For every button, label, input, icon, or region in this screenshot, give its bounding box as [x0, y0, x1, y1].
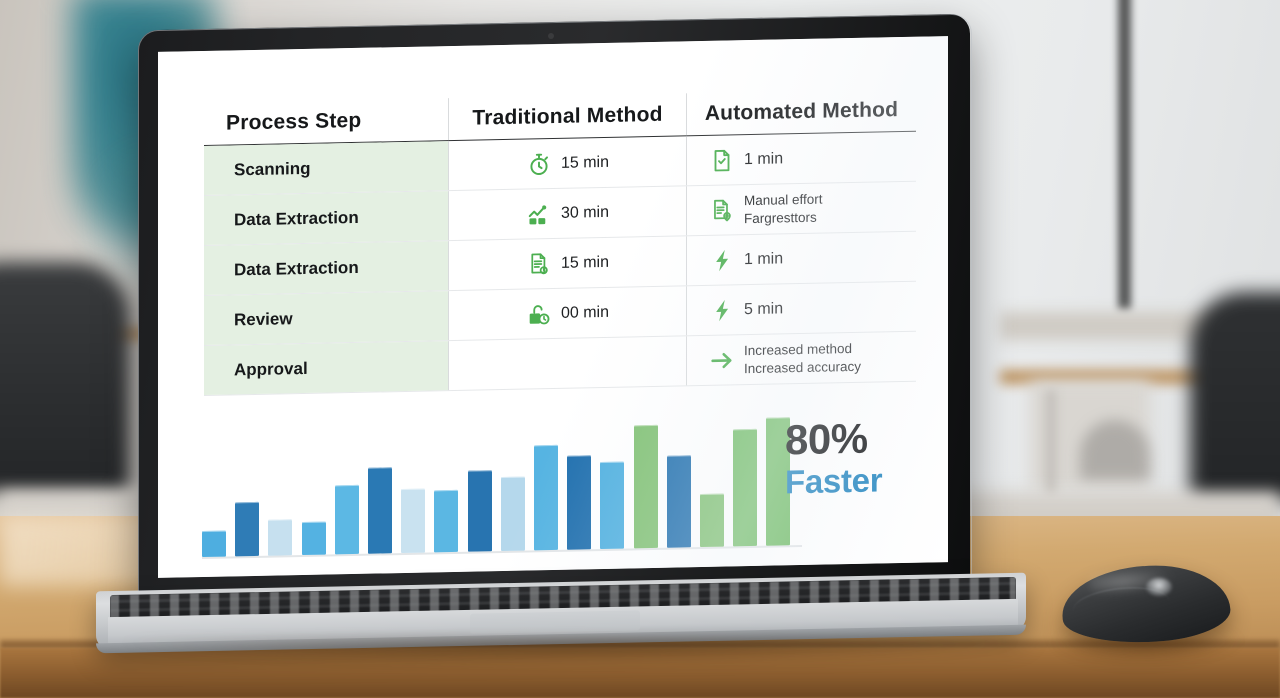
stat-number: 80%: [785, 416, 935, 461]
automated-value-secondary: Fargresttors: [744, 208, 823, 227]
header-cell-process-step: Process Step: [204, 98, 448, 145]
header-label-automated-method: Automated Method: [705, 98, 898, 126]
photo-scene: Process Step Traditional Method Automate…: [0, 0, 1280, 698]
chart-bar: [401, 489, 425, 553]
process-step-label: Review: [234, 309, 293, 330]
automated-value: 1 min: [744, 150, 783, 169]
cell-traditional-method: 00 min: [448, 286, 686, 340]
chart-bar: [667, 455, 691, 548]
cell-automated-method: Manual effort Fargresttors: [686, 182, 916, 236]
lightning-bolt-icon: [709, 247, 735, 274]
stopwatch-icon: [526, 151, 552, 178]
chart-bar: [733, 429, 757, 546]
document-check-icon: [709, 147, 735, 174]
cell-process-step: Data Extraction: [204, 241, 448, 295]
growth-chart-icon: [526, 201, 552, 228]
chart-bar: [368, 467, 392, 554]
chart-bar: [634, 425, 658, 549]
cell-traditional-method: [448, 336, 686, 390]
chart-bar: [567, 456, 591, 550]
document-location-icon: [709, 197, 735, 224]
laptop-screen[interactable]: Process Step Traditional Method Automate…: [158, 36, 948, 578]
chart-bar: [302, 521, 326, 555]
header-label-process-step: Process Step: [226, 109, 361, 136]
chart-bar: [202, 531, 226, 557]
arrow-right-icon: [709, 347, 735, 374]
cell-process-step: Scanning: [204, 141, 448, 195]
process-step-label: Approval: [234, 358, 308, 379]
automated-value-secondary: Increased accuracy: [744, 357, 861, 377]
automated-value: Increased method: [744, 340, 861, 360]
chart-bar: [434, 490, 458, 552]
cell-automated-method: 1 min: [686, 232, 916, 286]
cell-process-step: Approval: [204, 341, 448, 395]
chart-bar: [468, 470, 492, 552]
cell-traditional-method: 30 min: [448, 186, 686, 240]
mouse-scroll-button[interactable]: [1146, 578, 1172, 596]
traditional-value: 15 min: [561, 153, 609, 172]
bar-chart: 80% Faster: [158, 392, 948, 568]
stat-label: Faster: [785, 460, 935, 501]
chart-bar: [268, 520, 292, 556]
lightning-bolt-icon: [709, 297, 735, 324]
document-lines-icon: [526, 251, 552, 278]
cell-traditional-method: 15 min: [448, 136, 686, 190]
comparison-table: Process Step Traditional Method Automate…: [204, 89, 916, 396]
process-step-label: Data Extraction: [234, 257, 359, 280]
presentation-slide: Process Step Traditional Method Automate…: [158, 36, 948, 578]
cell-automated-method: Increased method Increased accuracy: [686, 332, 916, 386]
header-cell-traditional-method: Traditional Method: [448, 93, 686, 140]
chart-bar: [600, 461, 624, 549]
traditional-value: 30 min: [561, 203, 609, 222]
automated-value: 1 min: [744, 250, 783, 269]
chart-bar: [534, 445, 558, 550]
chart-bar: [235, 502, 259, 557]
cell-automated-method: 5 min: [686, 282, 916, 336]
header-cell-automated-method: Automated Method: [686, 89, 916, 136]
stat-callout: 80% Faster: [785, 416, 935, 501]
chart-bar: [335, 485, 359, 554]
automated-value: Manual effort: [744, 190, 823, 209]
process-step-label: Data Extraction: [234, 207, 359, 230]
chart-bar: [700, 494, 724, 547]
process-step-label: Scanning: [234, 158, 311, 180]
traditional-value: 00 min: [561, 303, 609, 322]
automated-value: 5 min: [744, 300, 783, 319]
cell-process-step: Data Extraction: [204, 191, 448, 245]
laptop-base-shadow: [120, 640, 1020, 662]
cell-traditional-method: 15 min: [448, 236, 686, 290]
cell-process-step: Review: [204, 291, 448, 345]
header-label-traditional-method: Traditional Method: [472, 103, 662, 131]
lock-clock-icon: [526, 301, 552, 328]
trackpad[interactable]: [470, 610, 640, 633]
traditional-value: 15 min: [561, 253, 609, 272]
chart-bar: [501, 477, 525, 551]
cell-automated-method: 1 min: [686, 132, 916, 186]
